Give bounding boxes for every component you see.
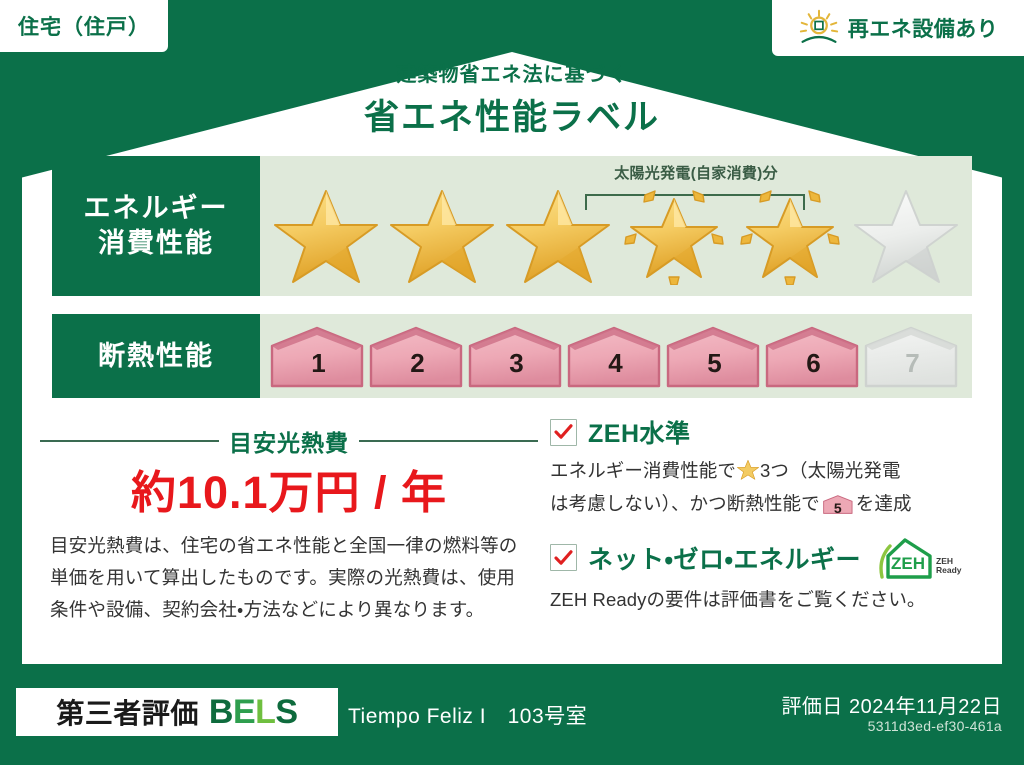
- insulation-grade-scale: 1 2 3: [270, 322, 964, 390]
- inline-star-icon: [737, 463, 759, 484]
- insulation-rating-panel: 1 2 3: [260, 314, 972, 398]
- housing-type-badge: 住宅（住戸）: [0, 0, 168, 52]
- check-icon: [554, 424, 573, 440]
- building-name: Tiempo Feliz I 103号室: [348, 700, 587, 730]
- utility-cost-note: 目安光熱費は、住宅の省エネ性能と全国一律の燃料等の単価を用いて算出したものです。…: [50, 530, 530, 625]
- star-1: [268, 183, 384, 287]
- insulation-grade-5: 5: [666, 326, 763, 390]
- insulation-grade-7: 7: [864, 326, 961, 390]
- heading-rule-right: [359, 440, 538, 442]
- net-zero-note: ZEH Readyの要件は評価書をご覧ください。: [550, 585, 990, 615]
- insulation-grade-5-value: 5: [666, 348, 763, 379]
- label-subtitle: 建築物省エネ法に基づく: [22, 58, 1002, 87]
- star-2: [384, 183, 500, 287]
- energy-label-line2: 消費性能: [98, 226, 214, 261]
- insulation-grade-4-value: 4: [567, 348, 664, 379]
- energy-label-line1: エネルギー: [84, 191, 229, 226]
- evaluation-id: 5311d3ed-ef30-461a: [868, 718, 1002, 734]
- zeh-desc-part1: エネルギー消費性能で: [550, 460, 736, 481]
- solar-sun-icon: [798, 9, 840, 47]
- check-icon: [554, 550, 573, 566]
- bels-letter-l: L: [255, 693, 275, 731]
- svg-text:ZEH: ZEH: [891, 554, 925, 573]
- insulation-grade-6-value: 6: [765, 348, 862, 379]
- insulation-grade-3-value: 3: [468, 348, 565, 379]
- bels-logo: BELS: [209, 693, 298, 732]
- evaluation-date: 評価日 2024年11月22日: [781, 690, 1002, 719]
- inline-house-grade-icon: 5: [823, 494, 853, 515]
- zeh-ready-text: ZEH Ready: [936, 557, 962, 579]
- utility-cost-heading: 目安光熱費: [40, 424, 538, 458]
- insulation-grade-2-value: 2: [369, 348, 466, 379]
- energy-performance-label: 住宅（住戸） 再エネ設備あり 建築: [0, 0, 1024, 765]
- solar-bracket-label: 太陽光発電(自家消費)分: [560, 162, 832, 183]
- energy-performance-row: エネルギー 消費性能 太陽光発電(自家消費)分: [52, 156, 972, 296]
- renewable-equipment-badge: 再エネ設備あり: [772, 0, 1024, 56]
- net-zero-title: ネット・ゼロ・エネルギー: [588, 540, 861, 576]
- label-content: 建築物省エネ法に基づく 省エネ性能ラベル エネルギー 消費性能 太陽光発電(自家…: [22, 52, 1002, 664]
- label-title-block: 建築物省エネ法に基づく 省エネ性能ラベル: [22, 58, 1002, 140]
- insulation-grade-1-value: 1: [270, 348, 367, 379]
- insulation-grade-4: 4: [567, 326, 664, 390]
- zeh-desc-part3: は考慮しない）、かつ断熱性能で: [550, 493, 820, 514]
- renewable-label: 再エネ設備あり: [848, 13, 999, 43]
- net-zero-checkbox[interactable]: [550, 544, 577, 571]
- insulation-performance-label: 断熱性能: [52, 314, 260, 398]
- insulation-performance-row: 断熱性能: [52, 314, 972, 398]
- zeh-section: ZEH水準 エネルギー消費性能で 3つ（太陽光発電 は考慮しない）、かつ断熱性能…: [550, 414, 990, 615]
- housing-type-label: 住宅（住戸）: [18, 11, 150, 41]
- bels-letter-b: B: [209, 693, 233, 731]
- utility-cost-heading-text: 目安光熱費: [229, 424, 349, 458]
- bels-plate: 第三者評価 BELS: [16, 688, 338, 736]
- star-6-empty: [848, 183, 964, 287]
- zeh-house-logo-icon: ZEH: [876, 537, 934, 579]
- star-5-solar: [732, 183, 848, 287]
- zeh-desc-part2: 3つ（太陽光発電: [760, 460, 901, 481]
- insulation-grade-7-value: 7: [864, 348, 961, 379]
- heading-rule-left: [40, 440, 219, 442]
- zeh-standard-heading: ZEH水準: [550, 414, 990, 450]
- insulation-grade-3: 3: [468, 326, 565, 390]
- insulation-grade-1: 1: [270, 326, 367, 390]
- bels-letter-e: E: [233, 693, 255, 731]
- star-3: [500, 183, 616, 287]
- inline-house-grade-value: 5: [823, 497, 853, 520]
- energy-performance-label: エネルギー 消費性能: [52, 156, 260, 296]
- label-title: 省エネ性能ラベル: [22, 89, 1002, 140]
- label-footer: 第三者評価 BELS Tiempo Feliz I 103号室 評価日 2024…: [0, 676, 1024, 765]
- zeh-standard-checkbox[interactable]: [550, 419, 577, 446]
- insulation-label-text: 断熱性能: [98, 339, 214, 374]
- insulation-grade-2: 2: [369, 326, 466, 390]
- zeh-logo: ZEH ZEH Ready: [876, 537, 962, 579]
- insulation-grade-6: 6: [765, 326, 862, 390]
- bels-letter-s: S: [275, 693, 297, 731]
- third-party-eval-label: 第三者評価: [56, 692, 199, 732]
- utility-cost-amount: 約10.1万円 / 年: [40, 456, 538, 521]
- zeh-ready-line2: Ready: [936, 565, 962, 575]
- star-rating: [268, 182, 964, 288]
- energy-rating-panel: 太陽光発電(自家消費)分: [260, 156, 972, 296]
- net-zero-heading: ネット・ゼロ・エネルギー ZEH ZEH Ready: [550, 537, 990, 579]
- zeh-standard-description: エネルギー消費性能で 3つ（太陽光発電 は考慮しない）、かつ断熱性能で 5を達成: [550, 456, 990, 519]
- star-4-solar: [616, 183, 732, 287]
- zeh-desc-part4: を達成: [856, 493, 912, 514]
- zeh-standard-title: ZEH水準: [588, 414, 691, 450]
